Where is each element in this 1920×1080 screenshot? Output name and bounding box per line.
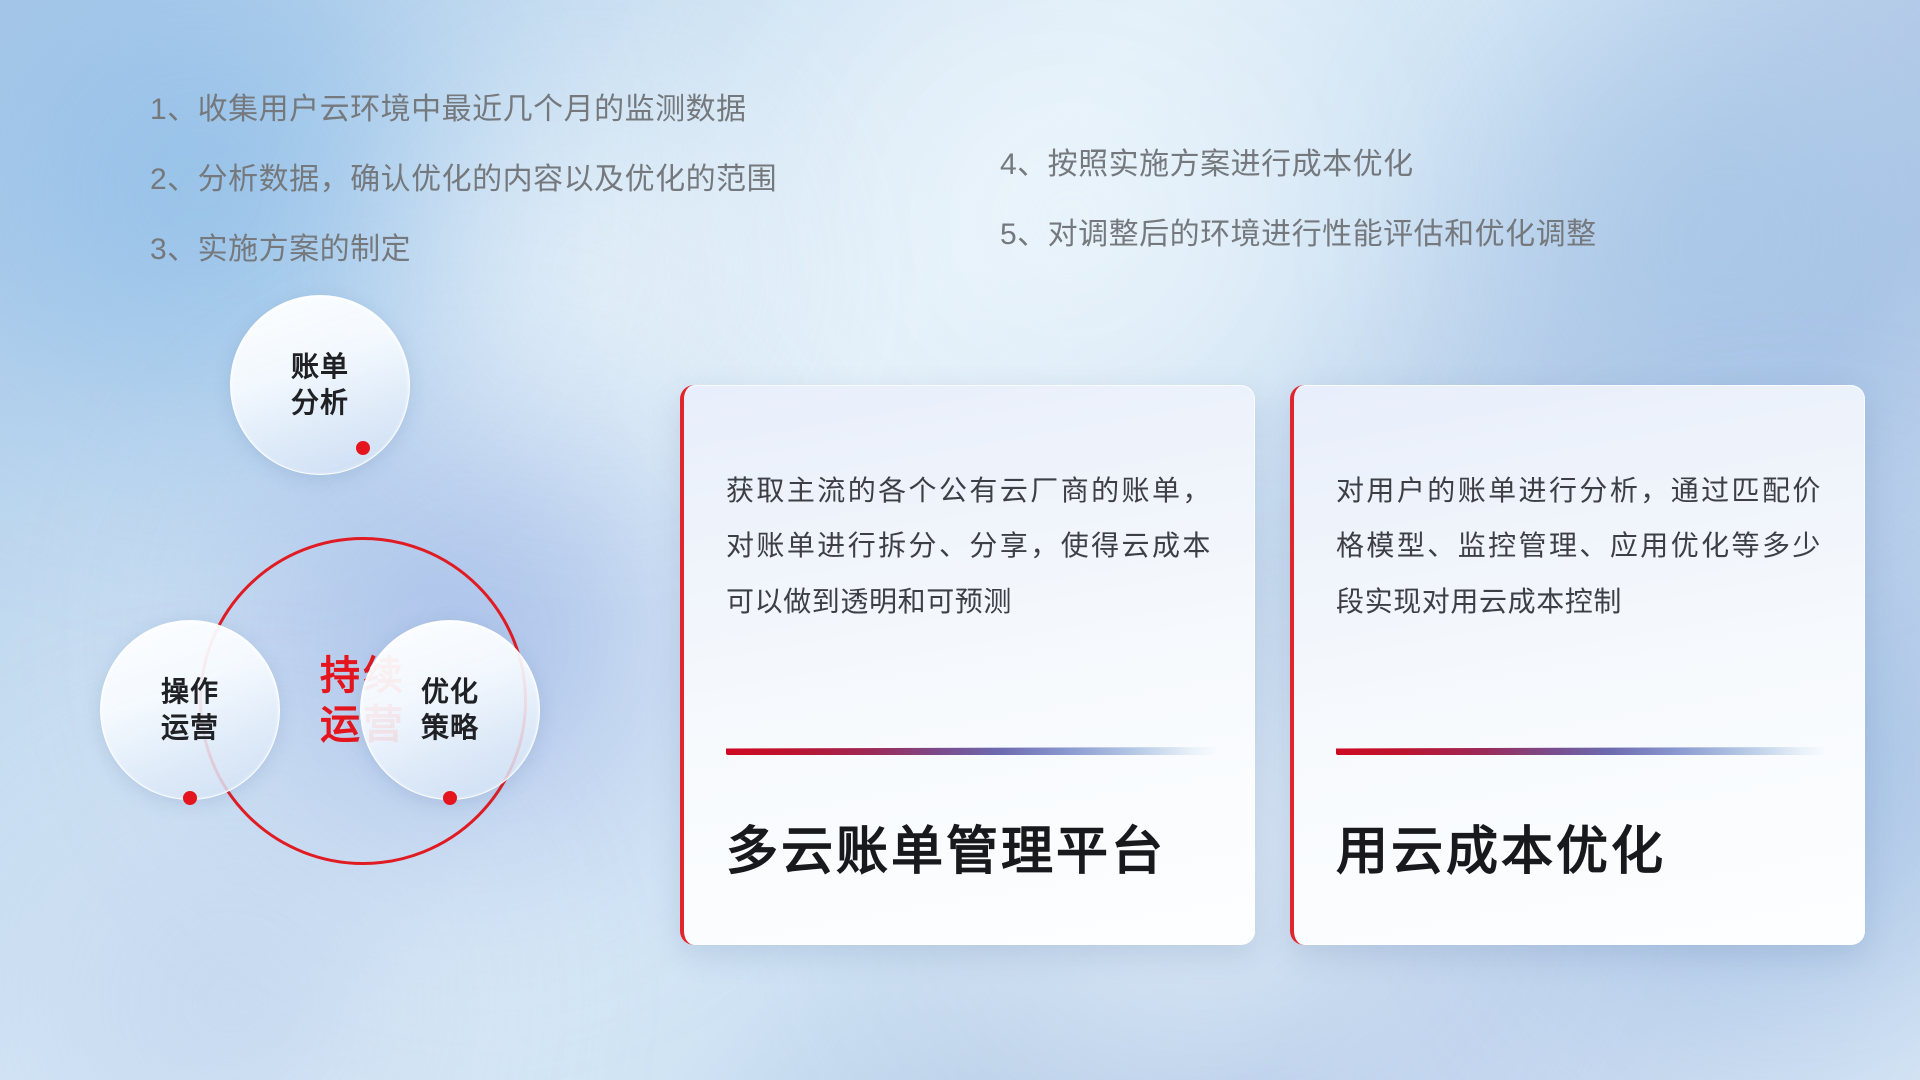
card-body-text: 获取主流的各个公有云厂商的账单，对账单进行拆分、分享，使得云成本可以做到透明和可… xyxy=(684,385,1255,629)
venn-node-dot-left xyxy=(183,791,197,805)
bubble-left-line1: 操作 xyxy=(161,676,219,707)
venn-diagram: 持续 运营 账单 分析 操作 运营 优化 策略 xyxy=(95,355,555,935)
venn-bubble-optimization-strategy[interactable]: 优化 策略 xyxy=(360,620,540,800)
bubble-top-line1: 账单 xyxy=(291,351,349,382)
steps-list-left: 1、收集用户云环境中最近几个月的监测数据 2、分析数据，确认优化的内容以及优化的… xyxy=(150,95,870,305)
step-item-5: 5、对调整后的环境进行性能评估和优化调整 xyxy=(1000,220,1760,250)
venn-node-dot-right xyxy=(443,791,457,805)
step-item-3: 3、实施方案的制定 xyxy=(150,235,870,265)
step-item-4: 4、按照实施方案进行成本优化 xyxy=(1000,150,1760,180)
step-item-2: 2、分析数据，确认优化的内容以及优化的范围 xyxy=(150,165,870,195)
card-cloud-cost-optimization[interactable]: 对用户的账单进行分析，通过匹配价格模型、监控管理、应用优化等多少段实现对用云成本… xyxy=(1290,385,1865,945)
steps-list-right: 4、按照实施方案进行成本优化 5、对调整后的环境进行性能评估和优化调整 xyxy=(1000,150,1760,290)
bubble-right-line2: 策略 xyxy=(421,712,479,743)
venn-bubble-billing-analysis[interactable]: 账单 分析 xyxy=(230,295,410,475)
venn-node-dot-top xyxy=(356,441,370,455)
bubble-right-line1: 优化 xyxy=(421,676,479,707)
card-body-text: 对用户的账单进行分析，通过匹配价格模型、监控管理、应用优化等多少段实现对用云成本… xyxy=(1294,385,1865,629)
bubble-top-line2: 分析 xyxy=(291,387,349,418)
step-item-1: 1、收集用户云环境中最近几个月的监测数据 xyxy=(150,95,870,125)
card-title: 用云成本优化 xyxy=(1336,821,1836,883)
card-accent-rule xyxy=(726,747,1216,755)
card-accent-rule xyxy=(1336,747,1826,755)
venn-bubble-operations[interactable]: 操作 运营 xyxy=(100,620,280,800)
card-multi-cloud-billing-platform[interactable]: 获取主流的各个公有云厂商的账单，对账单进行拆分、分享，使得云成本可以做到透明和可… xyxy=(680,385,1255,945)
card-title: 多云账单管理平台 xyxy=(726,821,1226,883)
bubble-left-line2: 运营 xyxy=(161,712,219,743)
